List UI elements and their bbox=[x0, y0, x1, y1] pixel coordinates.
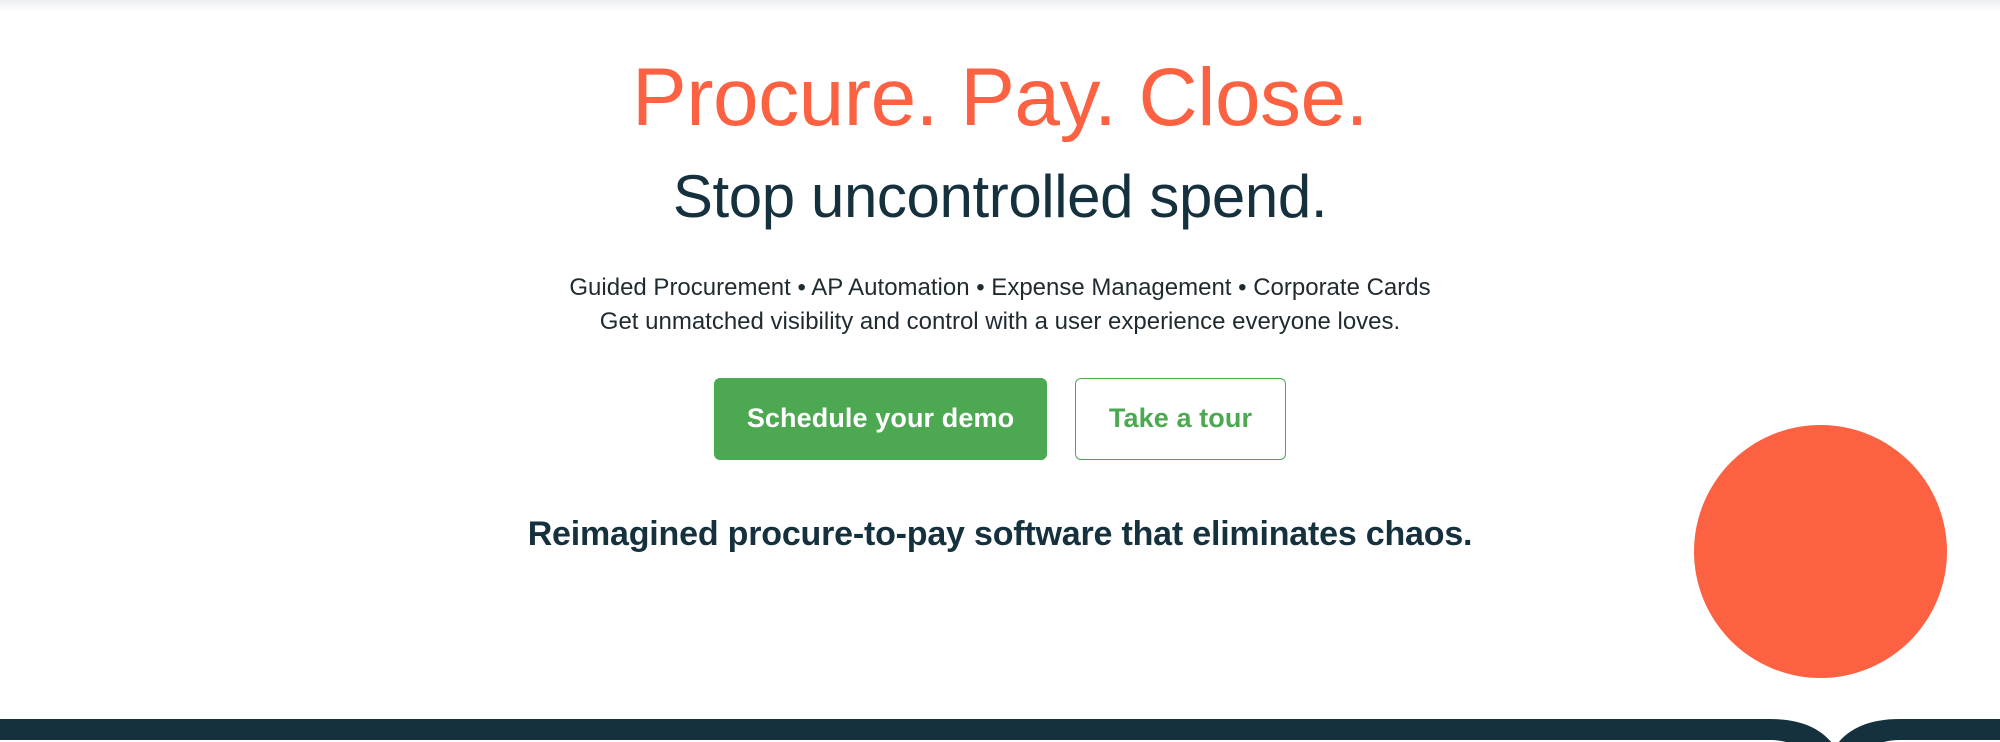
navy-band-shape bbox=[0, 719, 2000, 742]
schedule-demo-button[interactable]: Schedule your demo bbox=[714, 378, 1047, 460]
page-title: Procure. Pay. Close. bbox=[0, 52, 2000, 144]
hero-tagline: Reimagined procure-to-pay software that … bbox=[0, 512, 2000, 556]
hero-description: Guided Procurement • AP Automation • Exp… bbox=[0, 271, 2000, 337]
bottom-divider-ribbon bbox=[0, 682, 2000, 742]
hero-section-page: Procure. Pay. Close. Stop uncontrolled s… bbox=[0, 0, 2000, 742]
hero-subtitle: Stop uncontrolled spend. bbox=[0, 162, 2000, 232]
hero-content: Procure. Pay. Close. Stop uncontrolled s… bbox=[0, 0, 2000, 556]
cta-button-group: Schedule your demo Take a tour bbox=[0, 378, 2000, 460]
hero-feature-list: Guided Procurement • AP Automation • Exp… bbox=[0, 271, 2000, 304]
header-shadow-strip bbox=[0, 0, 2000, 11]
hero-value-statement: Get unmatched visibility and control wit… bbox=[0, 305, 2000, 338]
take-a-tour-button[interactable]: Take a tour bbox=[1075, 378, 1286, 460]
